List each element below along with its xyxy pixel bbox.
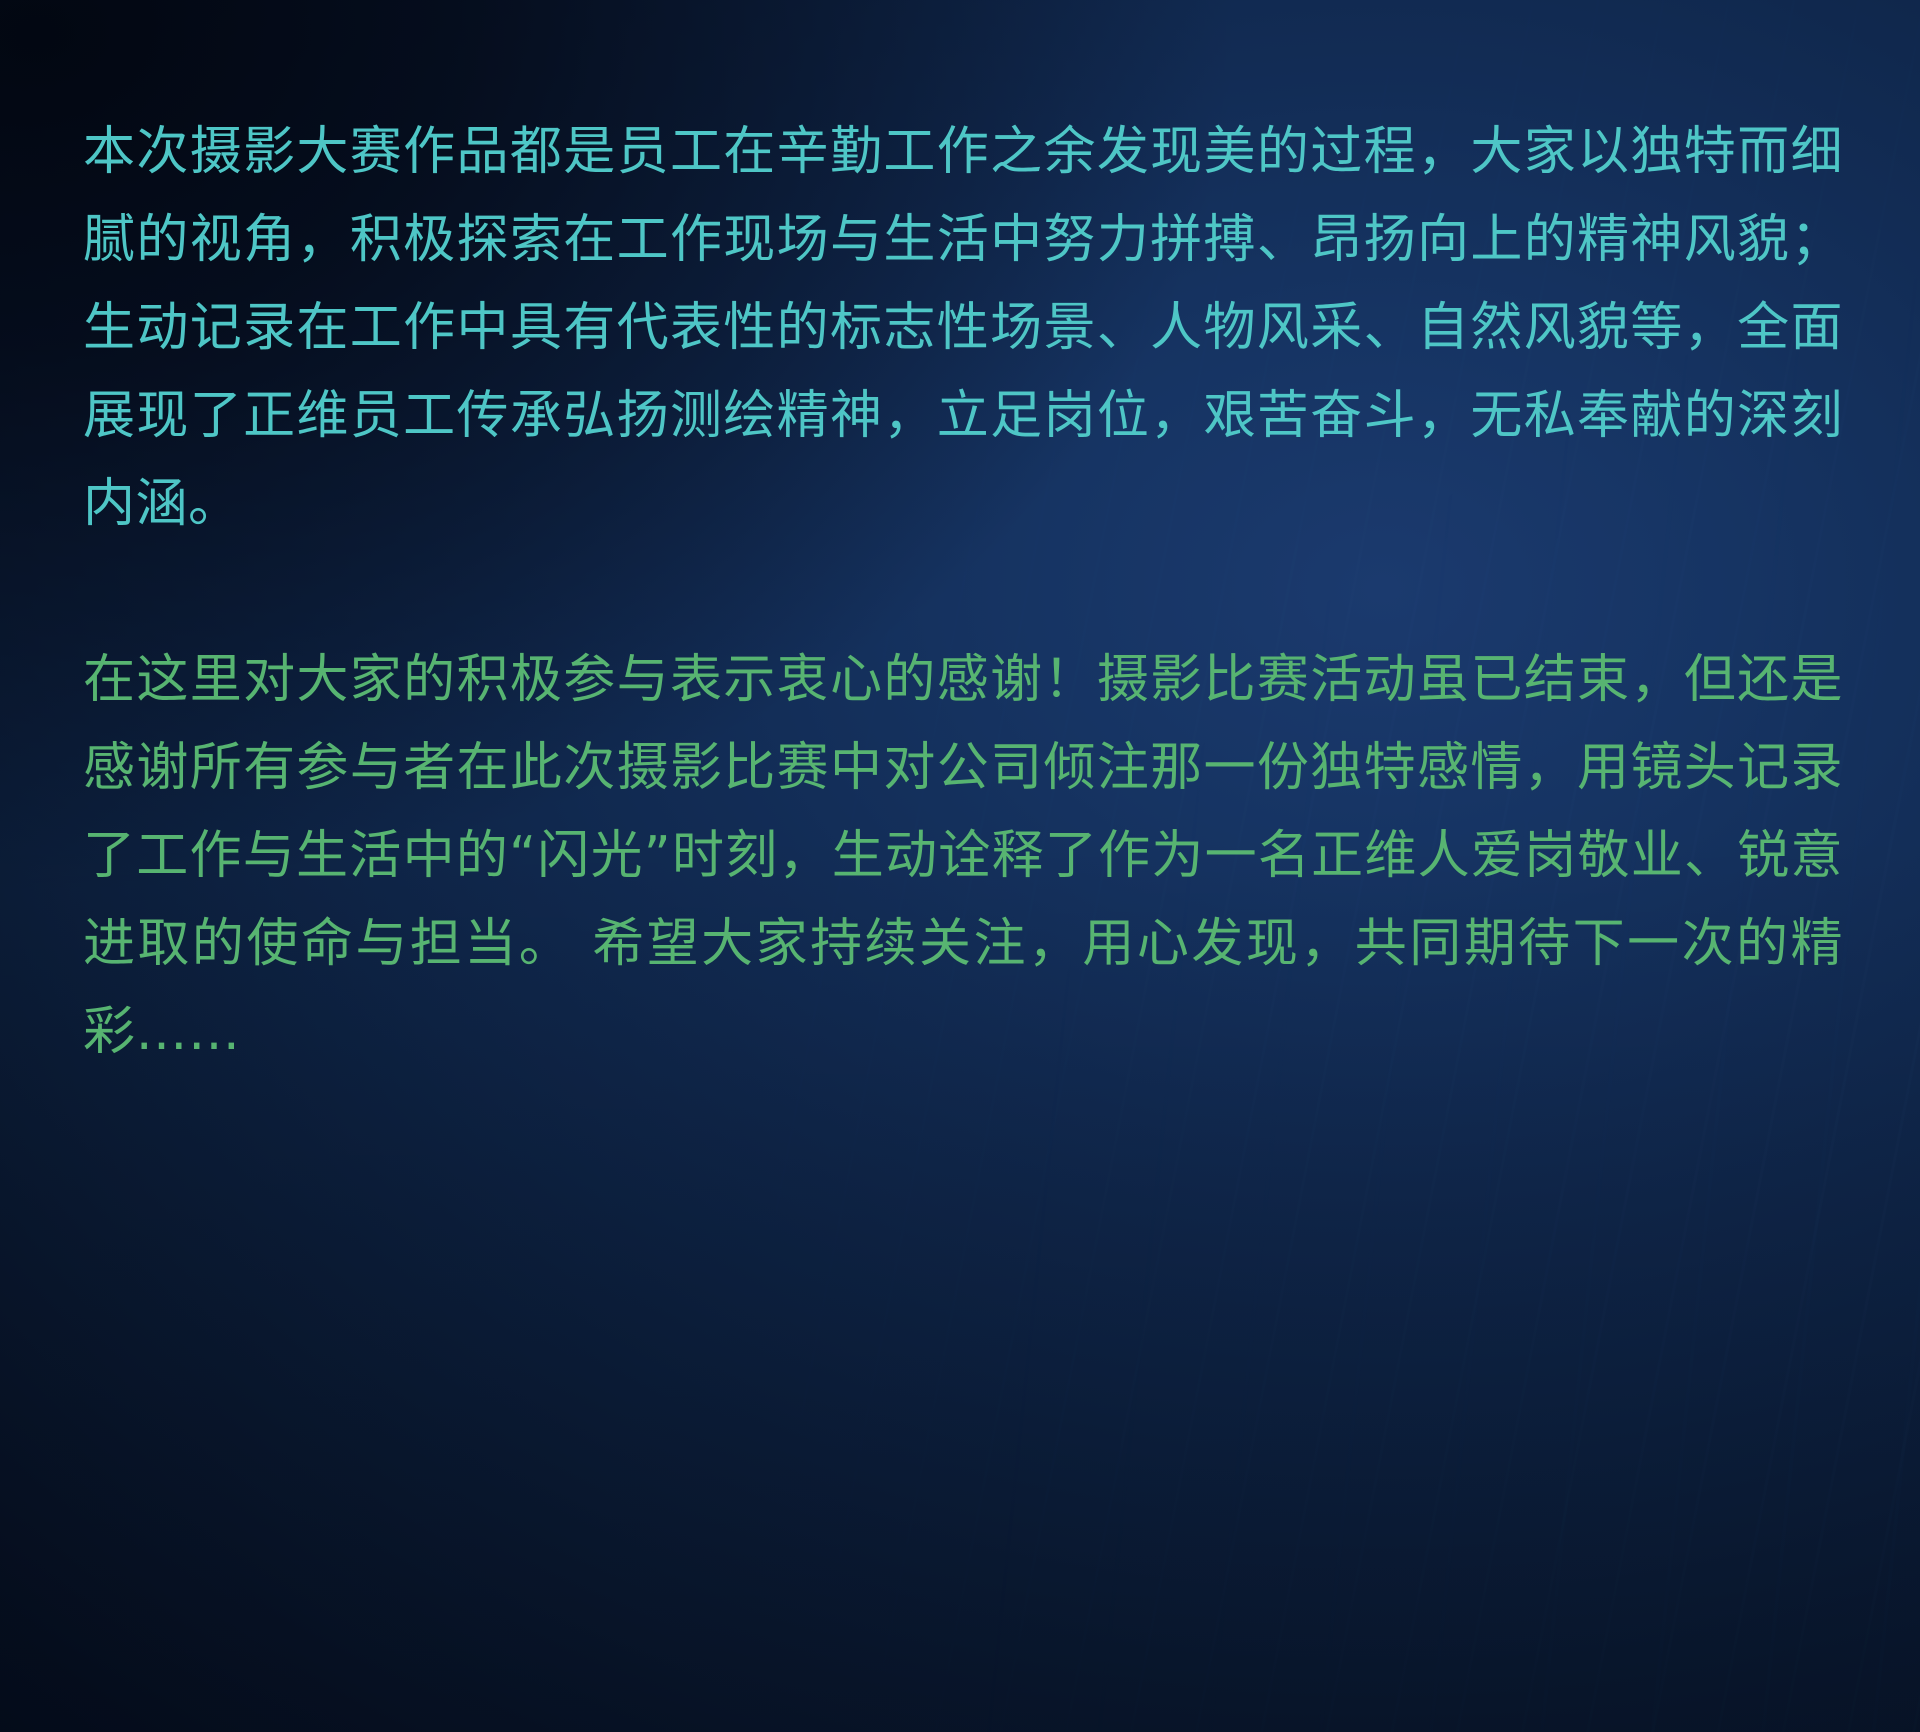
text-content-block: 本次摄影大赛作品都是员工在辛勤工作之余发现美的过程，大家以独特而细腻的视角，积极… — [83, 108, 1843, 1076]
paragraph-spacer — [83, 548, 1843, 636]
poster-canvas: 本次摄影大赛作品都是员工在辛勤工作之余发现美的过程，大家以独特而细腻的视角，积极… — [0, 0, 1920, 1732]
paragraph-one: 本次摄影大赛作品都是员工在辛勤工作之余发现美的过程，大家以独特而细腻的视角，积极… — [83, 108, 1843, 548]
paragraph-two: 在这里对大家的积极参与表示衷心的感谢！摄影比赛活动虽已结束，但还是感谢所有参与者… — [83, 636, 1843, 1076]
